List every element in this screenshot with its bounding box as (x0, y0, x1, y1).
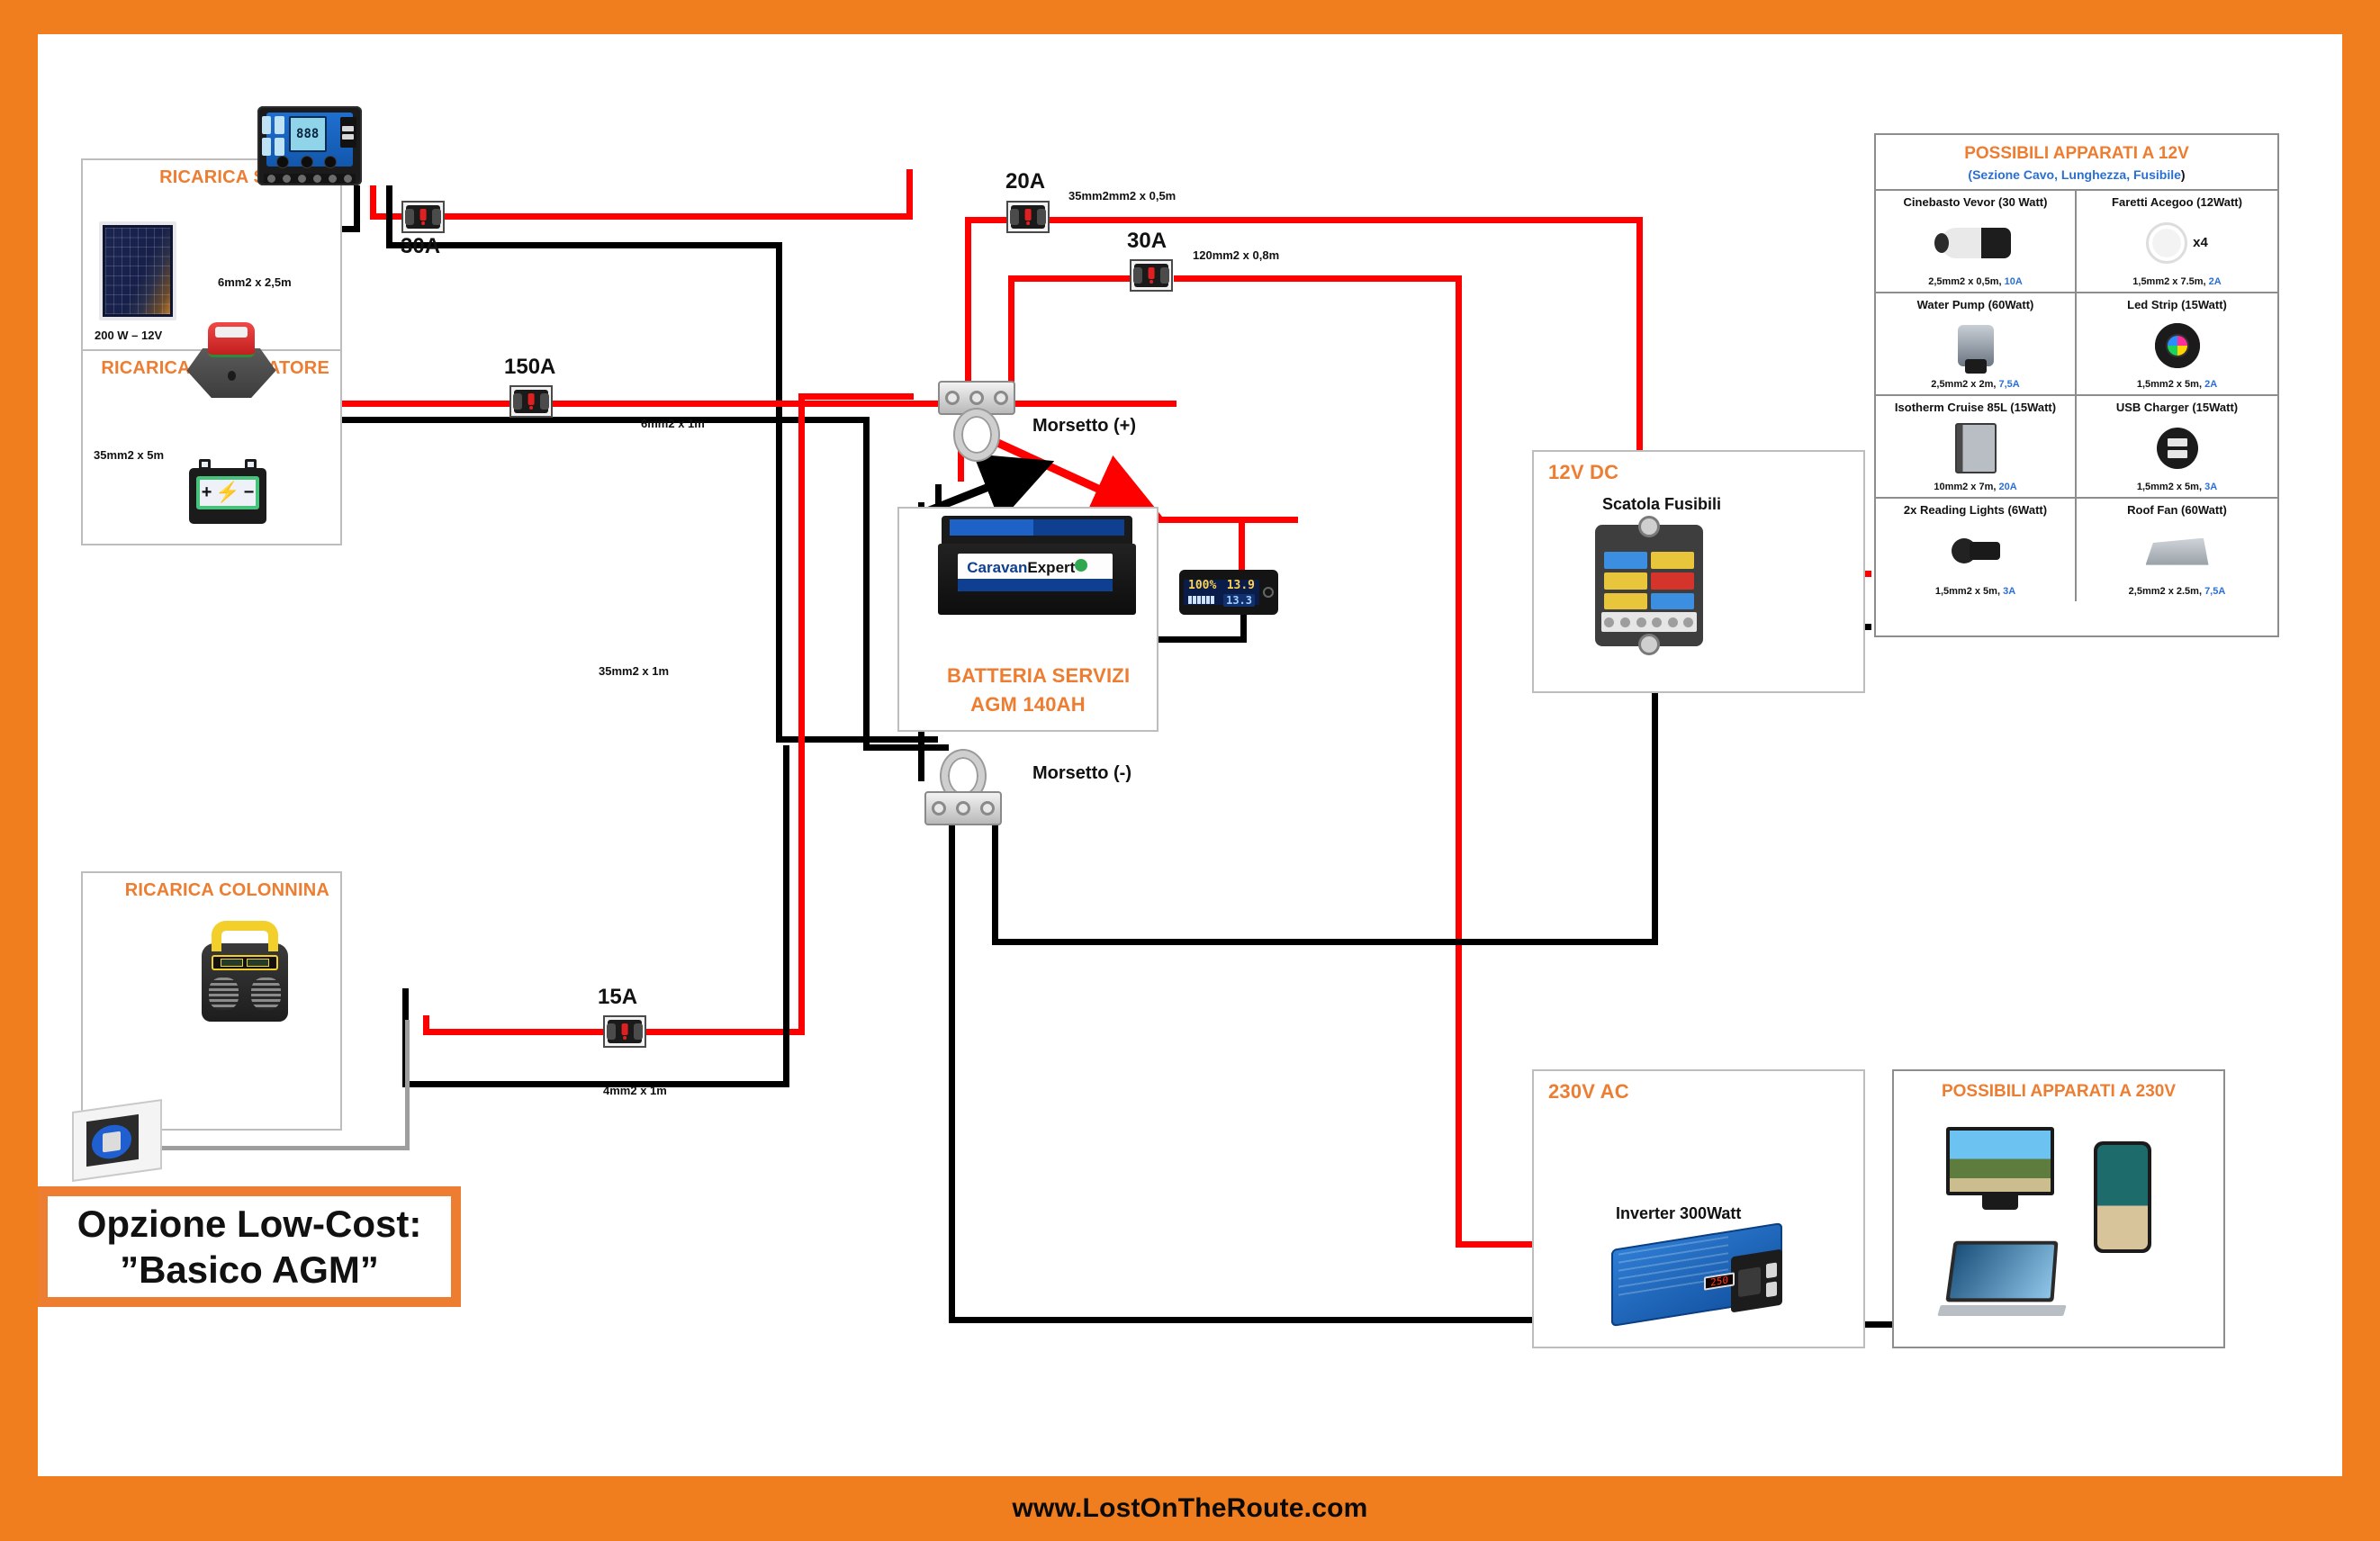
spec-text: 1,5mm2 x 7.5m, (2132, 276, 2208, 287)
pump-icon (1958, 325, 1994, 366)
battery-isolator-switch-icon (182, 320, 281, 401)
wire-20a-h-left (965, 217, 1010, 223)
subtitle-link: Fusibile (2133, 167, 2181, 182)
cable-label-30a: 120mm2 x 0,8m (1193, 248, 1279, 262)
fuse-label-30a-main: 30A (1127, 229, 1167, 254)
wire-batt-monitor-pos-2 (1239, 517, 1245, 576)
spec-fuse: 3A (2204, 482, 2217, 492)
terminal-positive-label: Morsetto (+) (1032, 416, 1136, 437)
heater-icon (1941, 228, 2011, 258)
fuse-label-30a-solar: 30A (401, 234, 440, 259)
wire-solar-out-neg-3 (776, 242, 782, 742)
subtitle-post: ) (2181, 167, 2186, 182)
smartphone-icon (2094, 1141, 2151, 1253)
terminal-clamp-negative (924, 754, 1002, 835)
battery-brand-bold: Expert (1027, 559, 1075, 576)
appliance-cell-roof-fan[interactable]: Roof Fan (60Watt) 2,5mm2 x 2.5m, 7,5A (2077, 499, 2277, 601)
wire-shore-pos-to-bus (798, 393, 914, 400)
diagram-page: RICARICA SOLARE 200 W – 12V 6mm2 x 2,5m … (0, 0, 2380, 1541)
title-line-2: ”Basico AGM” (120, 1247, 379, 1293)
appliances-12v-header: POSSIBILI APPARATI A 12V (Sezione Cavo, … (1876, 135, 2277, 191)
laptop-icon (1939, 1240, 2065, 1316)
appliances-12v-subtitle: (Sezione Cavo, Lunghezza, Fusibile) (1881, 167, 2272, 182)
appliance-name: USB Charger (15Watt) (2116, 401, 2238, 414)
spec-fuse: 20A (1998, 482, 2016, 492)
spec-fuse: 3A (2003, 586, 2015, 597)
reading-light-icon (1952, 536, 2000, 567)
wire-20a-to-dc (1049, 217, 1643, 223)
monitor-power-icon[interactable] (1263, 587, 1274, 598)
shore-inlet-socket-icon (72, 1105, 162, 1176)
appliance-cell-isotherm[interactable]: Isotherm Cruise 85L (15Watt) 10mm2 x 7m,… (1876, 396, 2077, 499)
controller-lcd: 888 (289, 116, 327, 152)
appliance-cell-usb-charger[interactable]: USB Charger (15Watt) 1,5mm2 x 5m, 3A (2077, 396, 2277, 499)
appliance-cell-reading-lights[interactable]: 2x Reading Lights (6Watt) 1,5mm2 x 5m, 3… (1876, 499, 2077, 601)
battery-plus-sign: + (202, 482, 212, 503)
wire-shore-pos-up-long (798, 393, 805, 1034)
spec-fuse: 10A (2005, 276, 2023, 287)
appliances-230v-panel: POSSIBILI APPARATI A 230V (1892, 1069, 2225, 1348)
monitor-voltage-small: 13.3 (1223, 594, 1255, 607)
appliances-12v-table: POSSIBILI APPARATI A 12V (Sezione Cavo, … (1874, 133, 2279, 637)
spec-text: 1,5mm2 x 5m, (2137, 482, 2204, 492)
footer-url[interactable]: www.LostOnTheRoute.com (1013, 1493, 1368, 1524)
spec-text: 10mm2 x 7m, (1934, 482, 1998, 492)
alternator-cable-label: 35mm2 x 5m (94, 448, 164, 462)
wire-alt-neg-v (863, 417, 870, 750)
battery-minus-sign: − (244, 482, 255, 503)
appliance-spec: 2,5mm2 x 2m, 7,5A (1931, 379, 2019, 390)
spotlight-icon (2146, 222, 2187, 264)
shore-section-title: RICARICA COLONNINA (125, 880, 329, 901)
wire-neg-bus-dc-h (992, 939, 1658, 945)
title-line-1: Opzione Low-Cost: (77, 1201, 422, 1247)
appliance-name: Isotherm Cruise 85L (15Watt) (1895, 401, 2056, 414)
appliance-spec: 2,5mm2 x 0,5m, 10A (1928, 276, 2023, 287)
battery-title-line2: AGM 140AH (947, 693, 1109, 716)
battery-monitor-icon: 100% 13.9 13.3 (1179, 570, 1278, 615)
breaker-15a (603, 1015, 646, 1048)
appliance-name: Cinebasto Vevor (30 Watt) (1904, 196, 2048, 209)
spec-fuse: 2A (2209, 276, 2222, 287)
wire-batt-monitor-pos-1 (1154, 517, 1298, 523)
fuse-box-icon (1595, 525, 1703, 646)
appliance-name: 2x Reading Lights (6Watt) (1904, 504, 2047, 517)
monitor-percent: 100% (1188, 579, 1216, 592)
fridge-icon (1955, 423, 1997, 473)
wire-neg-bus-down (949, 819, 955, 1323)
wire-solar-to-bus-pos-v (906, 169, 913, 220)
subtitle-pre: (Sezione Cavo, Lunghezza, (1968, 167, 2133, 182)
spec-text: 2,5mm2 x 2m, (1931, 379, 1998, 390)
diagram-canvas: RICARICA SOLARE 200 W – 12V 6mm2 x 2,5m … (38, 34, 2342, 1476)
appliance-spec: 1,5mm2 x 7.5m, 2A (2132, 276, 2221, 287)
wire-shore-after-15a (643, 1029, 805, 1035)
appliance-cell-water-pump[interactable]: Water Pump (60Watt) 2,5mm2 x 2m, 7,5A (1876, 293, 2077, 396)
roof-fan-icon (2146, 538, 2209, 565)
spec-fuse: 2A (2204, 379, 2217, 390)
monitor-voltage-big: 13.9 (1227, 579, 1255, 592)
ac-section-title: 230V AC (1548, 1080, 1629, 1104)
wire-solar-neg-2 (354, 185, 360, 232)
inverter-icon: 250 (1611, 1236, 1782, 1313)
appliance-spec: 2,5mm2 x 2.5m, 7,5A (2129, 586, 2226, 597)
terminal-clamp-positive (938, 381, 1015, 462)
wire-20a-v-from-bus (965, 217, 971, 397)
appliance-spec: 1,5mm2 x 5m, 3A (2137, 482, 2217, 492)
breaker-20a-main (1006, 201, 1050, 233)
appliance-name: Led Strip (15Watt) (2127, 299, 2227, 311)
wire-shore-neg-right (402, 1081, 789, 1087)
wire-shore-ac-1 (157, 1146, 409, 1150)
appliance-cell-faretti[interactable]: Faretti Acegoo (12Watt) x4 1,5mm2 x 7.5m… (2077, 191, 2277, 293)
footer-bar: www.LostOnTheRoute.com (0, 1476, 2380, 1541)
wire-alt-150a-right (546, 401, 1176, 407)
solar-panel-rating: 200 W – 12V (95, 329, 162, 342)
usb-charger-icon (2157, 428, 2198, 469)
monitor-icon (1946, 1127, 2054, 1195)
appliance-qty: x4 (2193, 235, 2208, 250)
appliance-cell-led-strip[interactable]: Led Strip (15Watt) 1,5mm2 x 5m, 2A (2077, 293, 2277, 396)
spec-text: 2,5mm2 x 0,5m, (1928, 276, 2004, 287)
title-block: Opzione Low-Cost: ”Basico AGM” (38, 1186, 461, 1307)
ledstrip-icon (2155, 323, 2200, 368)
wire-30a-left (1008, 275, 1134, 282)
shore-out-cable-label: 4mm2 x 1m (603, 1084, 667, 1097)
wire-neg-bus-to-inv (949, 1317, 1619, 1323)
spec-text: 1,5mm2 x 5m, (1935, 586, 2003, 597)
wire-shore-pos-right (423, 1029, 603, 1035)
wire-alt-neg-to-bus (863, 744, 949, 751)
fuse-label-20a: 20A (1005, 169, 1045, 194)
wire-solar-to-bus-pos (445, 213, 913, 220)
wire-solar-out-neg-1 (386, 185, 392, 248)
wire-neg-bus-dc-v (992, 819, 998, 945)
inverter-label: Inverter 300Watt (1616, 1204, 1741, 1223)
appliance-name: Faretti Acegoo (12Watt) (2112, 196, 2242, 209)
wire-30a-right (1174, 275, 1462, 282)
spec-fuse: 7,5A (1998, 379, 2019, 390)
battery-brand: Caravan (967, 559, 1027, 576)
solar-cable-label: 6mm2 x 2,5m (218, 275, 292, 289)
fuse-label-15a: 15A (598, 985, 637, 1010)
appliance-spec: 1,5mm2 x 5m, 3A (1935, 586, 2015, 597)
spec-fuse: 7,5A (2204, 586, 2225, 597)
solar-panel-icon (99, 221, 176, 320)
appliance-cell-cinebasto[interactable]: Cinebasto Vevor (30 Watt) 2,5mm2 x 0,5m,… (1876, 191, 2077, 293)
fuse-label-150a: 150A (504, 355, 555, 380)
wire-solar-out-neg-2 (386, 242, 782, 248)
portable-charger-icon (195, 921, 294, 1022)
appliance-name: Roof Fan (60Watt) (2127, 504, 2227, 517)
spec-text: 2,5mm2 x 2.5m, (2129, 586, 2204, 597)
wire-30a-down-to-inv (1456, 275, 1462, 1248)
dc-section-title: 12V DC (1548, 461, 1618, 484)
appliance-spec: 10mm2 x 7m, 20A (1934, 482, 2016, 492)
wire-shore-ac-2 (405, 1020, 410, 1150)
starter-battery-icon: + ⚡ − (189, 459, 266, 524)
fusebox-label: Scatola Fusibili (1602, 495, 1721, 514)
breaker-30a-main (1130, 259, 1173, 292)
alternator-out-cable-label: 35mm2 x 1m (599, 664, 669, 678)
appliances-12v-title: POSSIBILI APPARATI A 12V (1881, 144, 2272, 164)
terminal-negative-label: Morsetto (-) (1032, 763, 1131, 784)
cable-label-20a: 35mm2mm2 x 0,5m (1068, 189, 1176, 203)
battery-title-line1: BATTERIA SERVIZI (947, 664, 1109, 688)
service-battery-icon: CaravanExpert (938, 516, 1136, 615)
wire-30a-v (1008, 275, 1014, 397)
spec-text: 1,5mm2 x 5m, (2137, 379, 2204, 390)
solar-out-cable-label: 6mm2 x 1m (641, 417, 705, 430)
solar-charge-controller: 888 (257, 106, 362, 185)
battery-bolt-icon: ⚡ (215, 481, 239, 504)
appliance-name: Water Pump (60Watt) (1917, 299, 2034, 311)
breaker-30a-solar (401, 201, 445, 233)
appliance-spec: 1,5mm2 x 5m, 2A (2137, 379, 2217, 390)
appliances-230v-title: POSSIBILI APPARATI A 230V (1894, 1082, 2223, 1102)
wire-shore-neg-up (783, 745, 789, 1087)
breaker-150a (509, 385, 553, 418)
